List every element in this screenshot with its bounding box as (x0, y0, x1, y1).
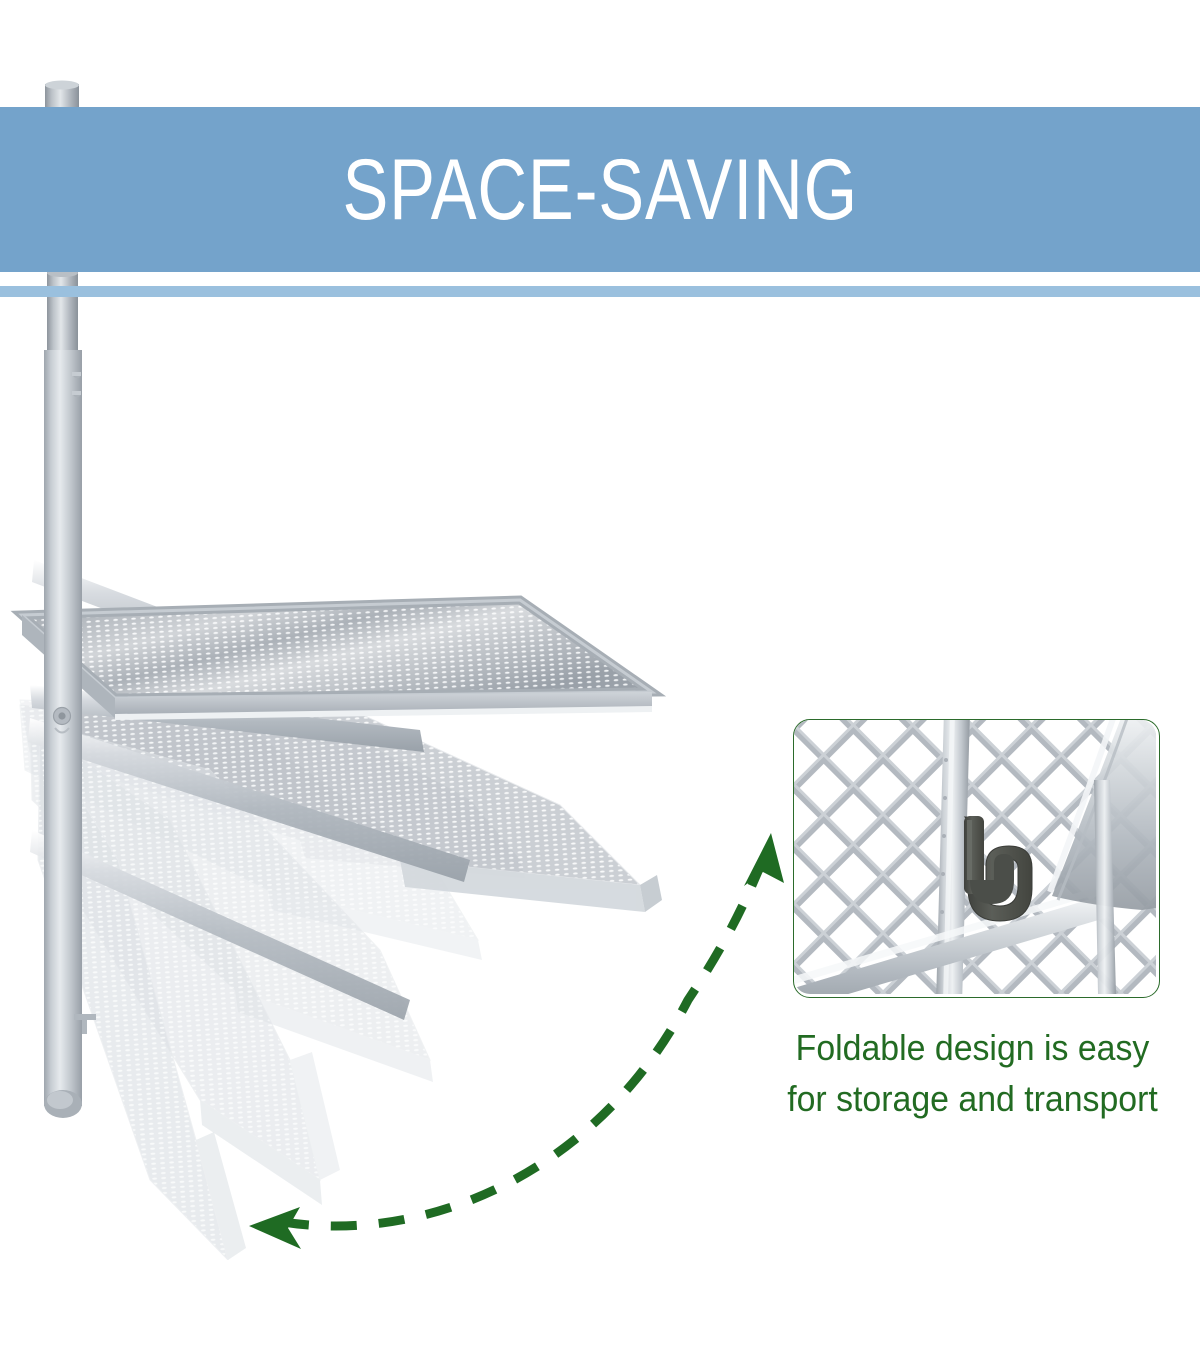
detail-callout-box (793, 719, 1160, 998)
table-top-deployed (22, 600, 652, 720)
caption-line-1: Foldable design is easy (759, 1022, 1187, 1073)
banner-underbar (0, 286, 1200, 297)
caption-line-2: for storage and transport (759, 1073, 1187, 1124)
banner: SPACE-SAVING (0, 107, 1200, 272)
detail-callout-image (794, 720, 1159, 997)
mesh-hook-closeup-svg (794, 720, 1156, 994)
callout-caption: Foldable design is easy for storage and … (745, 1022, 1200, 1124)
product-illustration-svg (0, 300, 800, 1260)
infographic-page: SPACE-SAVING (0, 0, 1200, 1372)
product-illustration (0, 300, 800, 1260)
banner-title: SPACE-SAVING (342, 147, 858, 233)
